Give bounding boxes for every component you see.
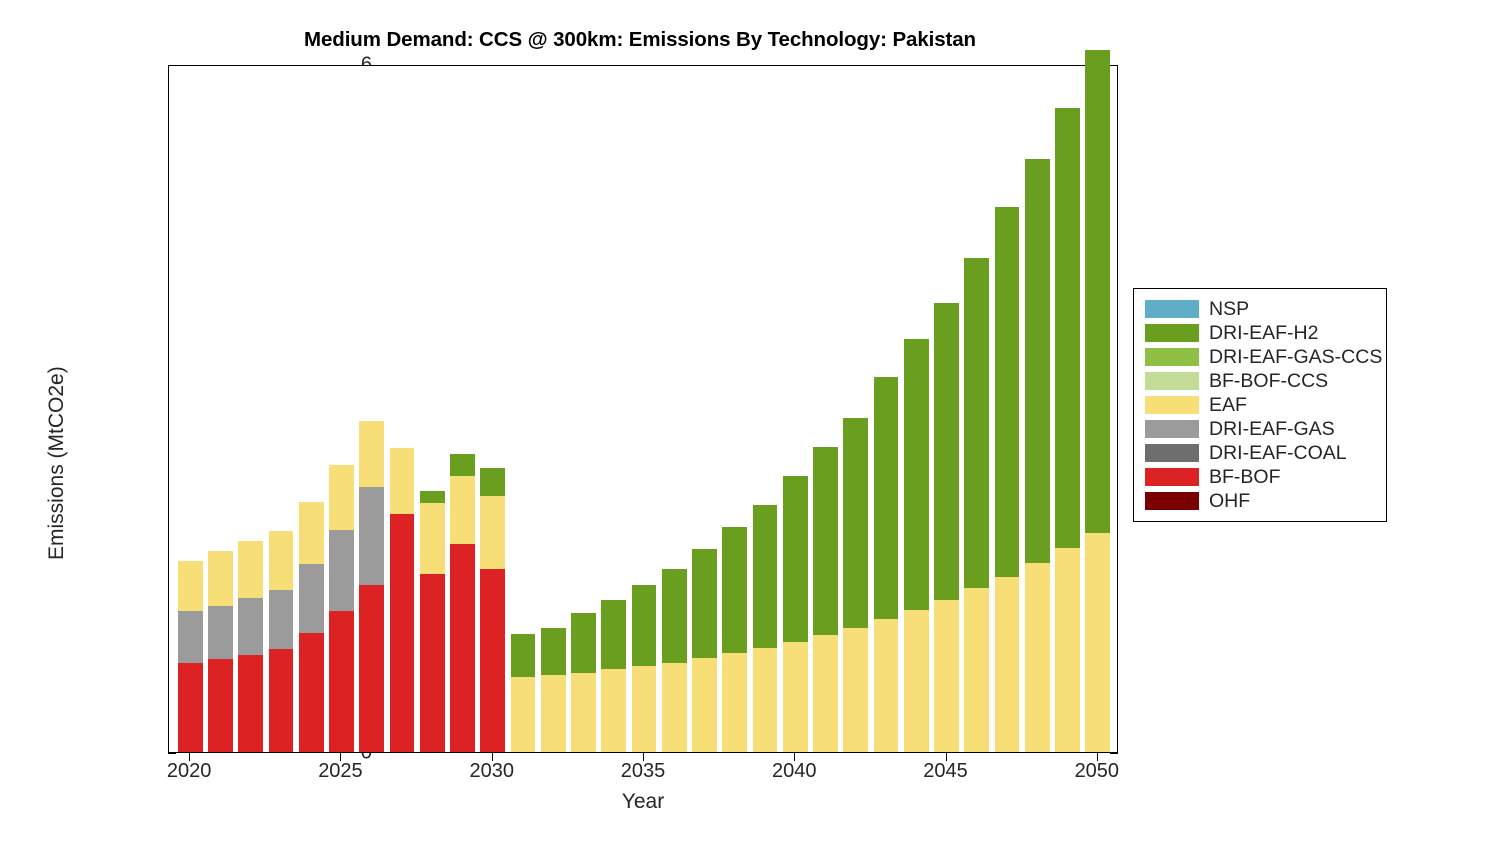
bar-segment-eaf[interactable] xyxy=(601,669,626,752)
legend-swatch-icon xyxy=(1145,324,1199,342)
bar-stack[interactable] xyxy=(178,561,203,752)
bar-segment-dri-eaf-gas[interactable] xyxy=(359,487,384,584)
x-tick-label: 2020 xyxy=(167,760,212,783)
bar-segment-dri-eaf-h2[interactable] xyxy=(722,527,747,653)
legend-label: EAF xyxy=(1209,394,1247,417)
x-tick-mark xyxy=(340,753,341,761)
bar-segment-dri-eaf-h2[interactable] xyxy=(692,549,717,658)
x-tick-label: 2035 xyxy=(621,760,666,783)
bar-stack[interactable] xyxy=(843,418,868,752)
legend-item[interactable]: DRI-EAF-H2 xyxy=(1134,321,1386,345)
bar-segment-eaf[interactable] xyxy=(541,675,566,752)
bar-segment-eaf[interactable] xyxy=(934,600,959,753)
bar-segment-bf-bof[interactable] xyxy=(359,585,384,752)
bar-segment-dri-eaf-h2[interactable] xyxy=(662,569,687,663)
legend-swatch-icon xyxy=(1145,396,1199,414)
bar-stack[interactable] xyxy=(480,468,505,752)
bar-stack[interactable] xyxy=(813,447,838,752)
bar-segment-bf-bof[interactable] xyxy=(420,574,445,752)
bar-segment-dri-eaf-h2[interactable] xyxy=(843,418,868,628)
bar-segment-dri-eaf-h2[interactable] xyxy=(934,303,959,600)
bar-segment-dri-eaf-h2[interactable] xyxy=(995,207,1020,576)
bar-stack[interactable] xyxy=(722,527,747,752)
page-title: Medium Demand: CCS @ 300km: Emissions By… xyxy=(0,28,1280,52)
bar-stack[interactable] xyxy=(1085,50,1110,752)
bar-segment-eaf[interactable] xyxy=(843,628,868,752)
bar-stack[interactable] xyxy=(299,502,324,752)
bar-stack[interactable] xyxy=(753,505,778,752)
bar-segment-bf-bof[interactable] xyxy=(178,663,203,752)
legend-item[interactable]: DRI-EAF-GAS-CCS xyxy=(1134,345,1386,369)
bar-stack[interactable] xyxy=(329,465,354,752)
bar-segment-bf-bof[interactable] xyxy=(208,659,233,752)
bar-segment-dri-eaf-gas[interactable] xyxy=(238,598,263,654)
bar-segment-eaf[interactable] xyxy=(450,476,475,545)
bar-stack[interactable] xyxy=(511,634,536,752)
legend-item[interactable]: DRI-EAF-COAL xyxy=(1134,441,1386,465)
bar-segment-dri-eaf-h2[interactable] xyxy=(632,585,657,666)
legend-item[interactable]: NSP xyxy=(1134,297,1386,321)
legend-label: DRI-EAF-GAS xyxy=(1209,418,1335,441)
bar-segment-eaf[interactable] xyxy=(269,531,294,591)
bar-segment-dri-eaf-gas[interactable] xyxy=(178,611,203,663)
legend-swatch-icon xyxy=(1145,444,1199,462)
bar-segment-eaf[interactable] xyxy=(238,541,263,598)
x-tick-label: 2050 xyxy=(1075,760,1120,783)
legend-label: BF-BOF-CCS xyxy=(1209,370,1328,393)
y-tick-mark-right xyxy=(1110,753,1118,754)
bar-segment-eaf[interactable] xyxy=(390,448,415,513)
bar-segment-bf-bof[interactable] xyxy=(390,514,415,753)
x-tick-mark xyxy=(492,753,493,761)
bar-stack[interactable] xyxy=(632,585,657,752)
legend-label: DRI-EAF-H2 xyxy=(1209,322,1318,345)
legend-item[interactable]: BF-BOF xyxy=(1134,465,1386,489)
legend-label: OHF xyxy=(1209,490,1250,513)
bar-segment-eaf[interactable] xyxy=(964,588,989,752)
legend-item[interactable]: BF-BOF-CCS xyxy=(1134,369,1386,393)
bar-segment-eaf[interactable] xyxy=(511,677,536,752)
plot-area xyxy=(168,65,1118,753)
x-tick-mark xyxy=(1097,753,1098,761)
bar-segment-eaf[interactable] xyxy=(420,503,445,574)
bar-stack[interactable] xyxy=(208,551,233,752)
legend-item[interactable]: EAF xyxy=(1134,393,1386,417)
y-tick-mark xyxy=(168,753,176,754)
bar-segment-dri-eaf-h2[interactable] xyxy=(420,491,445,504)
x-tick-mark xyxy=(643,753,644,761)
bar-stack[interactable] xyxy=(450,454,475,752)
bar-segment-eaf[interactable] xyxy=(329,465,354,529)
chart-figure: Medium Demand: CCS @ 300km: Emissions By… xyxy=(0,0,1500,844)
bar-segment-eaf[interactable] xyxy=(1025,563,1050,752)
bar-segment-eaf[interactable] xyxy=(359,421,384,488)
bar-segment-bf-bof[interactable] xyxy=(480,569,505,752)
legend-label: DRI-EAF-COAL xyxy=(1209,442,1347,465)
x-tick-label: 2025 xyxy=(318,760,363,783)
bar-stack[interactable] xyxy=(934,303,959,752)
bar-stack[interactable] xyxy=(783,476,808,752)
x-tick-label: 2045 xyxy=(923,760,968,783)
bar-segment-bf-bof[interactable] xyxy=(329,611,354,752)
legend-label: DRI-EAF-GAS-CCS xyxy=(1209,346,1382,369)
bar-segment-dri-eaf-h2[interactable] xyxy=(601,600,626,670)
legend-swatch-icon xyxy=(1145,468,1199,486)
bar-segment-bf-bof[interactable] xyxy=(269,649,294,752)
bar-segment-dri-eaf-h2[interactable] xyxy=(783,476,808,642)
legend-swatch-icon xyxy=(1145,420,1199,438)
bar-stack[interactable] xyxy=(692,549,717,752)
bar-segment-dri-eaf-h2[interactable] xyxy=(1085,50,1110,533)
bar-stack[interactable] xyxy=(874,377,899,752)
bar-segment-eaf[interactable] xyxy=(722,653,747,752)
bar-segment-eaf[interactable] xyxy=(480,496,505,568)
bar-stack[interactable] xyxy=(662,569,687,752)
bars-layer xyxy=(169,66,1117,752)
y-axis-label: Emissions (MtCO2e) xyxy=(45,366,69,560)
bar-segment-dri-eaf-gas[interactable] xyxy=(299,564,324,633)
bar-stack[interactable] xyxy=(269,531,294,752)
bar-segment-dri-eaf-h2[interactable] xyxy=(964,258,989,588)
bar-stack[interactable] xyxy=(359,421,384,752)
bar-segment-eaf[interactable] xyxy=(571,673,596,752)
bar-stack[interactable] xyxy=(420,491,445,752)
bar-segment-eaf[interactable] xyxy=(1085,533,1110,752)
x-tick-label: 2030 xyxy=(469,760,514,783)
bar-segment-dri-eaf-h2[interactable] xyxy=(541,628,566,675)
bar-stack[interactable] xyxy=(601,600,626,752)
bar-stack[interactable] xyxy=(238,541,263,752)
bar-segment-eaf[interactable] xyxy=(299,502,324,564)
bar-segment-eaf[interactable] xyxy=(208,551,233,606)
bar-segment-eaf[interactable] xyxy=(692,658,717,752)
bar-segment-bf-bof[interactable] xyxy=(450,544,475,752)
legend-item[interactable]: OHF xyxy=(1134,489,1386,513)
bar-segment-dri-eaf-h2[interactable] xyxy=(480,468,505,497)
bar-segment-dri-eaf-h2[interactable] xyxy=(753,505,778,647)
bar-stack[interactable] xyxy=(1025,159,1050,752)
bar-stack[interactable] xyxy=(1055,108,1080,752)
bar-segment-bf-bof[interactable] xyxy=(299,633,324,752)
bar-segment-dri-eaf-h2[interactable] xyxy=(1025,159,1050,563)
bar-segment-bf-bof[interactable] xyxy=(238,655,263,752)
bar-stack[interactable] xyxy=(995,207,1020,752)
x-tick-label: 2040 xyxy=(772,760,817,783)
bar-segment-eaf[interactable] xyxy=(1055,548,1080,752)
legend: NSPDRI-EAF-H2DRI-EAF-GAS-CCSBF-BOF-CCSEA… xyxy=(1133,288,1387,522)
x-axis-label: Year xyxy=(168,790,1118,814)
bar-segment-dri-eaf-h2[interactable] xyxy=(1055,108,1080,548)
bar-segment-dri-eaf-h2[interactable] xyxy=(874,377,899,619)
bar-segment-eaf[interactable] xyxy=(178,561,203,611)
legend-label: NSP xyxy=(1209,298,1249,321)
legend-swatch-icon xyxy=(1145,348,1199,366)
bar-segment-dri-eaf-h2[interactable] xyxy=(813,447,838,635)
bar-segment-dri-eaf-gas[interactable] xyxy=(208,606,233,659)
x-tick-mark xyxy=(946,753,947,761)
bar-segment-eaf[interactable] xyxy=(995,577,1020,752)
x-tick-mark xyxy=(794,753,795,761)
bar-segment-eaf[interactable] xyxy=(662,663,687,752)
bar-segment-dri-eaf-gas[interactable] xyxy=(269,590,294,648)
bar-segment-dri-eaf-h2[interactable] xyxy=(450,454,475,476)
legend-swatch-icon xyxy=(1145,372,1199,390)
bar-segment-dri-eaf-h2[interactable] xyxy=(511,634,536,678)
bar-stack[interactable] xyxy=(571,613,596,752)
bar-stack[interactable] xyxy=(964,258,989,752)
legend-label: BF-BOF xyxy=(1209,466,1281,489)
bar-stack[interactable] xyxy=(541,628,566,752)
legend-swatch-icon xyxy=(1145,300,1199,318)
bar-segment-eaf[interactable] xyxy=(904,610,929,752)
bar-segment-dri-eaf-gas[interactable] xyxy=(329,530,354,611)
x-tick-mark xyxy=(189,753,190,761)
bar-segment-dri-eaf-h2[interactable] xyxy=(904,339,929,610)
bar-stack[interactable] xyxy=(904,339,929,752)
bar-segment-eaf[interactable] xyxy=(813,635,838,752)
legend-item[interactable]: DRI-EAF-GAS xyxy=(1134,417,1386,441)
bar-segment-eaf[interactable] xyxy=(874,619,899,752)
bar-segment-eaf[interactable] xyxy=(753,648,778,752)
bar-segment-eaf[interactable] xyxy=(783,642,808,752)
bar-segment-eaf[interactable] xyxy=(632,666,657,752)
bar-stack[interactable] xyxy=(390,448,415,752)
bar-segment-dri-eaf-h2[interactable] xyxy=(571,613,596,673)
legend-swatch-icon xyxy=(1145,492,1199,510)
